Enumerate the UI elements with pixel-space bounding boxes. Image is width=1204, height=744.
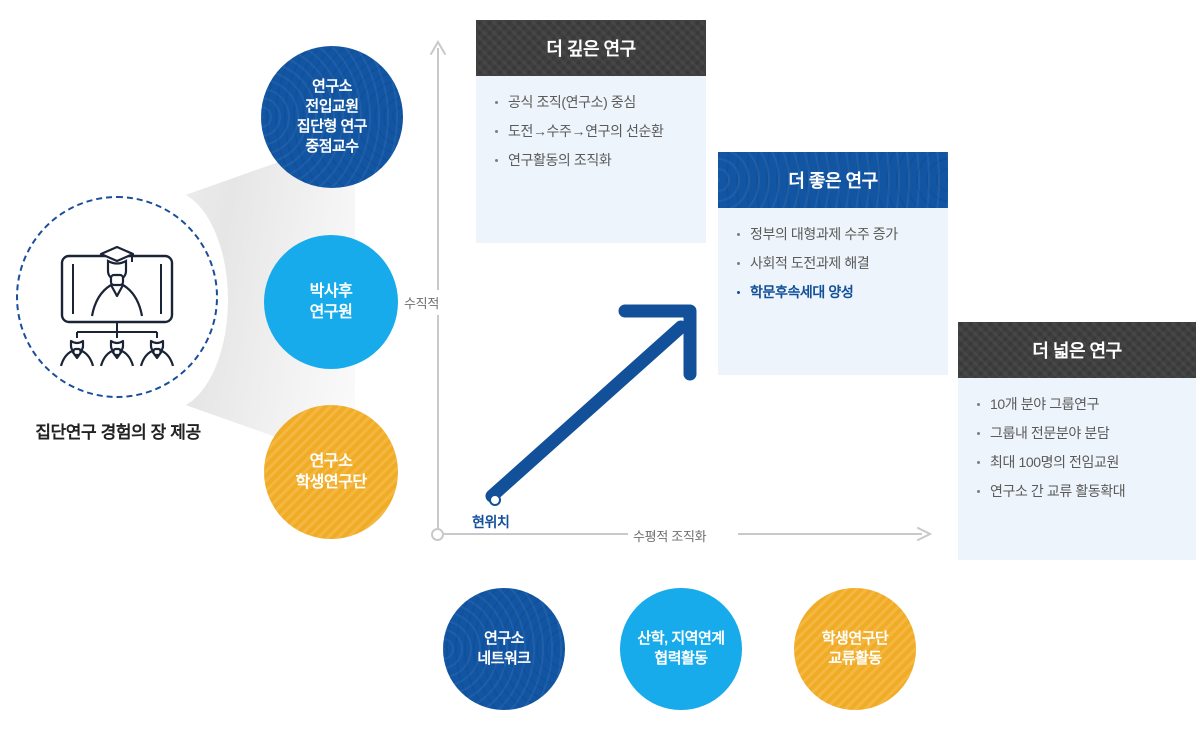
card-title: 더 깊은 연구 [546,35,635,61]
list-item: 연구활동의 조직화 [494,150,688,171]
card-deeper-research: 더 깊은 연구 공식 조직(연구소) 중심 도전→수주→연구의 선순환 연구활동… [476,20,706,243]
role-circle-label: 연구소 학생연구단 [295,451,366,493]
current-position-marker [489,494,501,506]
card-better-research: 더 좋은 연구 정부의 대형과제 수주 증가 사회적 도전과제 해결 학문후속세… [718,152,948,375]
role-circle-researcher-transfer-faculty[interactable]: 연구소 전입교원 집단형 연구 중점교수 [261,46,403,188]
current-position-label: 현위치 [472,512,509,532]
x-axis-arrow-icon [916,526,932,542]
card-header: 더 깊은 연구 [476,20,706,76]
hero-caption: 집단연구 경험의 장 제공 [0,418,236,443]
diagram-canvas: 집단연구 경험의 장 제공 연구소 전입교원 집단형 연구 중점교수 박사후 연… [0,0,1204,744]
bullet-text: 그룹내 전문분야 분담 [990,425,1109,441]
bullet-text: 연구소 간 교류 활동확대 [990,483,1125,499]
role-circle-postdoc-researcher[interactable]: 박사후 연구원 [264,235,398,369]
x-axis-line-right [738,533,922,535]
bottom-circle-label: 산학, 지역연계 협력활동 [637,629,724,669]
y-axis-arrow-icon [429,40,447,56]
x-axis-label: 수평적 조직화 [633,526,706,545]
bullet-text: 10개 분야 그룹연구 [990,396,1099,412]
card-title: 더 넓은 연구 [1032,337,1121,363]
lecture-group-icon [48,228,186,366]
card-title: 더 좋은 연구 [788,167,877,193]
list-item: 공식 조직(연구소) 중심 [494,92,688,113]
bullet-text: 최대 100명의 전임교원 [990,454,1119,470]
bottom-circle-student-group-exchange[interactable]: 학생연구단 교류활동 [794,588,916,710]
card-header: 더 넓은 연구 [958,322,1196,378]
list-item: 정부의 대형과제 수주 증가 [736,224,930,245]
list-item: 연구소 간 교류 활동확대 [976,481,1178,502]
list-item: 도전→수주→연구의 선순환 [494,121,688,142]
card-header: 더 좋은 연구 [718,152,948,208]
bullet-text: 학문후속세대 양성 [750,284,853,300]
list-item: 그룹내 전문분야 분담 [976,423,1178,444]
y-axis-label: 수직적 [400,290,443,315]
card-body: 10개 분야 그룹연구 그룹내 전문분야 분담 최대 100명의 전임교원 연구… [958,378,1196,560]
role-circle-label: 연구소 전입교원 집단형 연구 중점교수 [297,77,367,156]
bullet-text: 공식 조직(연구소) 중심 [508,94,636,110]
card-bullet-list: 10개 분야 그룹연구 그룹내 전문분야 분담 최대 100명의 전임교원 연구… [976,394,1178,502]
role-circle-student-research-group[interactable]: 연구소 학생연구단 [264,405,398,539]
x-axis-line-left [444,533,628,535]
role-circle-label: 박사후 연구원 [310,281,353,323]
bottom-circle-institute-network[interactable]: 연구소 네트워크 [443,588,565,710]
bullet-text: 연구활동의 조직화 [508,152,611,168]
bottom-circle-label: 학생연구단 교류활동 [822,629,889,669]
bottom-circle-industry-region-cooperation[interactable]: 산학, 지역연계 협력활동 [620,588,742,710]
card-bullet-list: 공식 조직(연구소) 중심 도전→수주→연구의 선순환 연구활동의 조직화 [494,92,688,171]
list-item: 10개 분야 그룹연구 [976,394,1178,415]
list-item-highlighted: 학문후속세대 양성 [736,282,930,303]
bullet-text: 도전→수주→연구의 선순환 [508,123,664,139]
card-body: 정부의 대형과제 수주 증가 사회적 도전과제 해결 학문후속세대 양성 [718,208,948,375]
axis-origin-marker [431,528,444,541]
list-item: 사회적 도전과제 해결 [736,253,930,274]
card-body: 공식 조직(연구소) 중심 도전→수주→연구의 선순환 연구활동의 조직화 [476,76,706,243]
card-wider-research: 더 넓은 연구 10개 분야 그룹연구 그룹내 전문분야 분담 최대 100명의… [958,322,1196,560]
bottom-circle-label: 연구소 네트워크 [477,629,530,669]
card-bullet-list: 정부의 대형과제 수주 증가 사회적 도전과제 해결 학문후속세대 양성 [736,224,930,303]
list-item: 최대 100명의 전임교원 [976,452,1178,473]
growth-direction-arrow-icon [478,295,708,510]
bullet-text: 사회적 도전과제 해결 [750,255,869,271]
bullet-text: 정부의 대형과제 수주 증가 [750,226,898,242]
